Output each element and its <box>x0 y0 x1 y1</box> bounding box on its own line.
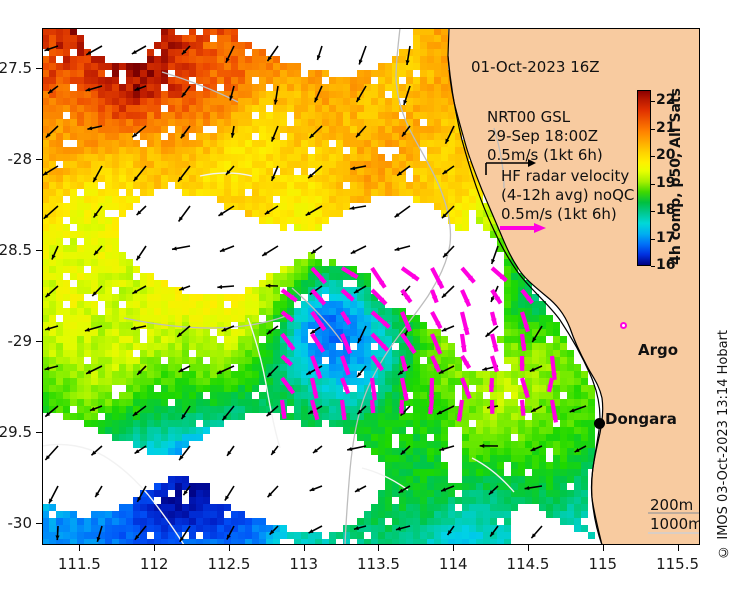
sst-cell <box>119 154 126 161</box>
sst-cell <box>105 154 112 161</box>
sst-cell <box>133 287 140 294</box>
sst-cell <box>91 518 98 525</box>
sst-cell <box>98 245 105 252</box>
sst-cell <box>490 518 497 525</box>
sst-cell <box>147 133 154 140</box>
sst-cell <box>119 287 126 294</box>
sst-cell <box>105 539 112 545</box>
sst-cell <box>280 329 287 336</box>
sst-cell <box>98 371 105 378</box>
sst-cell <box>49 112 56 119</box>
sst-cell <box>511 497 518 504</box>
sst-cell <box>343 189 350 196</box>
sst-cell <box>553 490 560 497</box>
sst-cell <box>434 161 441 168</box>
sst-cell <box>420 427 427 434</box>
sst-cell <box>84 315 91 322</box>
sst-cell <box>504 322 511 329</box>
sst-cell <box>49 28 56 35</box>
sst-cell <box>70 77 77 84</box>
sst-cell <box>168 511 175 518</box>
sst-cell <box>196 413 203 420</box>
sst-cell <box>385 504 392 511</box>
sst-cell <box>420 392 427 399</box>
sst-cell <box>189 315 196 322</box>
sst-cell <box>343 273 350 280</box>
sst-cell <box>308 91 315 98</box>
sst-cell <box>469 497 476 504</box>
sst-cell <box>490 420 497 427</box>
sst-cell <box>532 462 539 469</box>
sst-cell <box>119 273 126 280</box>
sst-cell <box>105 399 112 406</box>
sst-cell <box>56 231 63 238</box>
sst-cell <box>413 350 420 357</box>
sst-cell <box>357 392 364 399</box>
sst-cell <box>42 189 49 196</box>
sst-cell <box>91 308 98 315</box>
sst-cell <box>210 315 217 322</box>
sst-cell <box>315 392 322 399</box>
sst-cell <box>105 329 112 336</box>
sst-cell <box>210 511 217 518</box>
sst-cell <box>63 364 70 371</box>
sst-cell <box>560 406 567 413</box>
sst-cell <box>210 399 217 406</box>
sst-cell <box>427 476 434 483</box>
sst-cell <box>581 434 588 441</box>
sst-cell <box>49 189 56 196</box>
sst-cell <box>497 448 504 455</box>
sst-cell <box>273 280 280 287</box>
sst-cell <box>385 539 392 545</box>
sst-cell <box>378 182 385 189</box>
sst-cell <box>70 343 77 350</box>
sst-cell <box>56 140 63 147</box>
sst-cell <box>56 168 63 175</box>
sst-cell <box>98 175 105 182</box>
sst-cell <box>133 147 140 154</box>
sst-cell <box>392 364 399 371</box>
sst-cell <box>315 315 322 322</box>
sst-cell <box>42 63 49 70</box>
sst-cell <box>119 329 126 336</box>
sst-cell <box>189 392 196 399</box>
sst-cell <box>399 343 406 350</box>
sst-cell <box>217 98 224 105</box>
sst-cell <box>350 112 357 119</box>
sst-cell <box>56 252 63 259</box>
sst-cell <box>119 252 126 259</box>
sst-cell <box>301 182 308 189</box>
sst-cell <box>371 434 378 441</box>
sst-cell <box>392 539 399 545</box>
sst-cell <box>413 490 420 497</box>
sst-cell <box>196 539 203 545</box>
sst-cell <box>77 329 84 336</box>
radar-scale-label: 0.5m/s (1kt 6h) <box>501 205 617 223</box>
sst-cell <box>273 77 280 84</box>
sst-cell <box>168 504 175 511</box>
sst-cell <box>42 77 49 84</box>
sst-cell <box>42 154 49 161</box>
sst-cell <box>343 371 350 378</box>
sst-cell <box>203 483 210 490</box>
sst-cell <box>126 175 133 182</box>
sst-cell <box>224 364 231 371</box>
sst-cell <box>224 322 231 329</box>
sst-cell <box>378 301 385 308</box>
sst-cell <box>329 154 336 161</box>
sst-cell <box>357 105 364 112</box>
sst-cell <box>161 168 168 175</box>
sst-cell <box>497 525 504 532</box>
sst-cell <box>406 182 413 189</box>
sst-cell <box>182 49 189 56</box>
sst-cell <box>238 294 245 301</box>
sst-cell <box>469 448 476 455</box>
sst-cell <box>294 273 301 280</box>
sst-cell <box>98 91 105 98</box>
sst-cell <box>357 364 364 371</box>
sst-cell <box>42 133 49 140</box>
sst-cell <box>371 140 378 147</box>
sst-cell <box>182 434 189 441</box>
sst-cell <box>154 448 161 455</box>
sst-cell <box>112 322 119 329</box>
sst-cell <box>301 126 308 133</box>
sst-cell <box>287 189 294 196</box>
sst-cell <box>525 455 532 462</box>
sst-cell <box>224 42 231 49</box>
sst-cell <box>70 378 77 385</box>
sst-cell <box>189 427 196 434</box>
sst-cell <box>98 539 105 545</box>
sst-cell <box>350 196 357 203</box>
dongara-marker-icon[interactable] <box>594 418 605 429</box>
sst-cell <box>518 273 525 280</box>
sst-cell <box>147 420 154 427</box>
sst-cell <box>413 63 420 70</box>
sst-cell <box>182 189 189 196</box>
sst-cell <box>378 112 385 119</box>
sst-cell <box>56 350 63 357</box>
sst-cell <box>266 189 273 196</box>
sst-cell <box>357 434 364 441</box>
sst-cell <box>259 189 266 196</box>
argo-marker-icon[interactable] <box>620 322 627 329</box>
sst-cell <box>140 126 147 133</box>
sst-cell <box>350 413 357 420</box>
sst-cell <box>126 392 133 399</box>
sst-cell <box>511 301 518 308</box>
sst-cell <box>42 119 49 126</box>
sst-cell <box>91 392 98 399</box>
sst-cell <box>105 378 112 385</box>
sst-cell <box>364 133 371 140</box>
sst-cell <box>427 119 434 126</box>
sst-cell <box>301 147 308 154</box>
sst-cell <box>147 56 154 63</box>
sst-cell <box>462 175 469 182</box>
sst-cell <box>119 147 126 154</box>
sst-cell <box>238 182 245 189</box>
sst-cell <box>140 525 147 532</box>
sst-cell <box>413 427 420 434</box>
sst-cell <box>357 413 364 420</box>
sst-cell <box>308 378 315 385</box>
sst-cell <box>175 91 182 98</box>
sst-cell <box>189 182 196 189</box>
sst-cell <box>189 42 196 49</box>
sst-cell <box>168 42 175 49</box>
sst-cell <box>84 301 91 308</box>
sst-cell <box>441 84 448 91</box>
sst-cell <box>98 357 105 364</box>
sst-cell <box>441 434 448 441</box>
sst-cell <box>175 301 182 308</box>
sst-cell <box>210 112 217 119</box>
sst-cell <box>161 539 168 545</box>
sst-cell <box>567 371 574 378</box>
sst-cell <box>154 350 161 357</box>
sst-cell <box>273 189 280 196</box>
sst-cell <box>567 441 574 448</box>
sst-cell <box>175 350 182 357</box>
sst-cell <box>427 84 434 91</box>
sst-cell <box>546 385 553 392</box>
sst-cell <box>42 399 49 406</box>
sst-cell <box>91 224 98 231</box>
sst-cell <box>455 539 462 545</box>
sst-cell <box>392 329 399 336</box>
sst-cell <box>364 182 371 189</box>
sst-cell <box>308 126 315 133</box>
sst-cell <box>266 280 273 287</box>
sst-cell <box>42 98 49 105</box>
sst-cell <box>448 98 455 105</box>
sst-cell <box>259 133 266 140</box>
sst-cell <box>210 49 217 56</box>
sst-cell <box>357 287 364 294</box>
sst-cell <box>70 161 77 168</box>
sst-cell <box>294 385 301 392</box>
sst-cell <box>147 182 154 189</box>
sst-cell <box>420 329 427 336</box>
sst-cell <box>336 350 343 357</box>
sst-cell <box>154 427 161 434</box>
sst-cell <box>70 392 77 399</box>
sst-cell <box>483 224 490 231</box>
sst-cell <box>322 350 329 357</box>
sst-cell <box>182 42 189 49</box>
sst-cell <box>441 371 448 378</box>
sst-cell <box>42 56 49 63</box>
sst-cell <box>210 518 217 525</box>
sst-cell <box>56 364 63 371</box>
sst-cell <box>112 252 119 259</box>
sst-cell <box>112 343 119 350</box>
sst-cell <box>322 266 329 273</box>
sst-cell <box>77 231 84 238</box>
sst-cell <box>126 273 133 280</box>
sst-cell <box>140 189 147 196</box>
sst-cell <box>294 294 301 301</box>
sst-cell <box>231 399 238 406</box>
sst-cell <box>196 518 203 525</box>
sst-cell <box>140 112 147 119</box>
sst-cell <box>301 77 308 84</box>
sst-cell <box>203 147 210 154</box>
sst-cell <box>91 63 98 70</box>
sst-cell <box>588 455 595 462</box>
sst-cell <box>350 189 357 196</box>
sst-cell <box>532 434 539 441</box>
sst-cell <box>196 525 203 532</box>
sst-cell <box>497 504 504 511</box>
sst-cell <box>392 126 399 133</box>
sst-cell <box>357 189 364 196</box>
sst-cell <box>560 455 567 462</box>
sst-cell <box>315 189 322 196</box>
sst-cell <box>413 112 420 119</box>
sst-cell <box>315 371 322 378</box>
sst-cell <box>364 511 371 518</box>
sst-cell <box>259 56 266 63</box>
sst-cell <box>490 448 497 455</box>
sst-cell <box>266 168 273 175</box>
sst-cell <box>252 196 259 203</box>
sst-cell <box>511 385 518 392</box>
sst-cell <box>371 357 378 364</box>
sst-cell <box>280 70 287 77</box>
sst-cell <box>147 441 154 448</box>
sst-cell <box>119 525 126 532</box>
sst-cell <box>476 392 483 399</box>
sst-cell <box>336 77 343 84</box>
sst-cell <box>98 378 105 385</box>
sst-cell <box>378 119 385 126</box>
sst-cell <box>154 168 161 175</box>
sst-cell <box>350 301 357 308</box>
sst-cell <box>448 91 455 98</box>
sst-cell <box>77 539 84 545</box>
sst-cell <box>84 91 91 98</box>
sst-cell <box>336 175 343 182</box>
sst-cell <box>385 77 392 84</box>
sst-cell <box>511 329 518 336</box>
sst-cell <box>483 420 490 427</box>
sst-cell <box>525 287 532 294</box>
sst-cell <box>133 399 140 406</box>
sst-cell <box>525 343 532 350</box>
sst-cell <box>119 532 126 539</box>
sst-cell <box>56 322 63 329</box>
sst-cell <box>413 441 420 448</box>
sst-cell <box>385 385 392 392</box>
sst-cell <box>315 112 322 119</box>
x-tick-label: 111.5 <box>44 555 114 573</box>
sst-cell <box>217 343 224 350</box>
sst-cell <box>539 301 546 308</box>
sst-cell <box>518 462 525 469</box>
sst-cell <box>308 210 315 217</box>
sst-cell <box>77 77 84 84</box>
sst-cell <box>371 154 378 161</box>
sst-cell <box>336 392 343 399</box>
sst-cell <box>385 70 392 77</box>
sst-cell <box>252 147 259 154</box>
sst-cell <box>49 49 56 56</box>
sst-cell <box>413 133 420 140</box>
sst-cell <box>280 336 287 343</box>
sst-cell <box>539 497 546 504</box>
sst-cell <box>147 539 154 545</box>
sst-cell <box>455 154 462 161</box>
sst-cell <box>217 77 224 84</box>
sst-cell <box>378 84 385 91</box>
sst-cell <box>259 350 266 357</box>
sst-cell <box>259 294 266 301</box>
sst-cell <box>147 98 154 105</box>
sst-cell <box>63 406 70 413</box>
sst-cell <box>91 203 98 210</box>
sst-cell <box>399 182 406 189</box>
sst-cell <box>399 56 406 63</box>
sst-cell <box>252 518 259 525</box>
sst-cell <box>546 378 553 385</box>
sst-cell <box>322 126 329 133</box>
sst-cell <box>210 357 217 364</box>
sst-cell <box>98 203 105 210</box>
map-plot-area[interactable]: 01-Oct-2023 16Z NRT00 GSL 29-Sep 18:00Z … <box>42 28 700 545</box>
sst-cell <box>105 371 112 378</box>
sst-cell <box>140 434 147 441</box>
sst-cell <box>329 399 336 406</box>
sst-cell <box>364 371 371 378</box>
sst-cell <box>203 133 210 140</box>
sst-cell <box>315 147 322 154</box>
sst-cell <box>399 420 406 427</box>
sst-cell <box>378 315 385 322</box>
sst-cell <box>266 406 273 413</box>
sst-cell <box>539 315 546 322</box>
sst-cell <box>189 119 196 126</box>
sst-cell <box>84 539 91 545</box>
sst-cell <box>476 217 483 224</box>
sst-cell <box>336 322 343 329</box>
sst-cell <box>280 357 287 364</box>
sst-cell <box>84 189 91 196</box>
sst-cell <box>133 175 140 182</box>
sst-cell <box>210 322 217 329</box>
sst-cell <box>154 301 161 308</box>
sst-cell <box>112 301 119 308</box>
title-datetime: 01-Oct-2023 16Z <box>471 58 600 76</box>
sst-cell <box>49 392 56 399</box>
sst-cell <box>210 70 217 77</box>
sst-cell <box>112 126 119 133</box>
sst-cell <box>427 511 434 518</box>
sst-cell <box>210 28 217 35</box>
sst-cell <box>245 56 252 63</box>
sst-cell <box>343 98 350 105</box>
sst-cell <box>245 406 252 413</box>
sst-cell <box>399 539 406 545</box>
sst-cell <box>49 245 56 252</box>
sst-cell <box>357 140 364 147</box>
sst-cell <box>126 98 133 105</box>
